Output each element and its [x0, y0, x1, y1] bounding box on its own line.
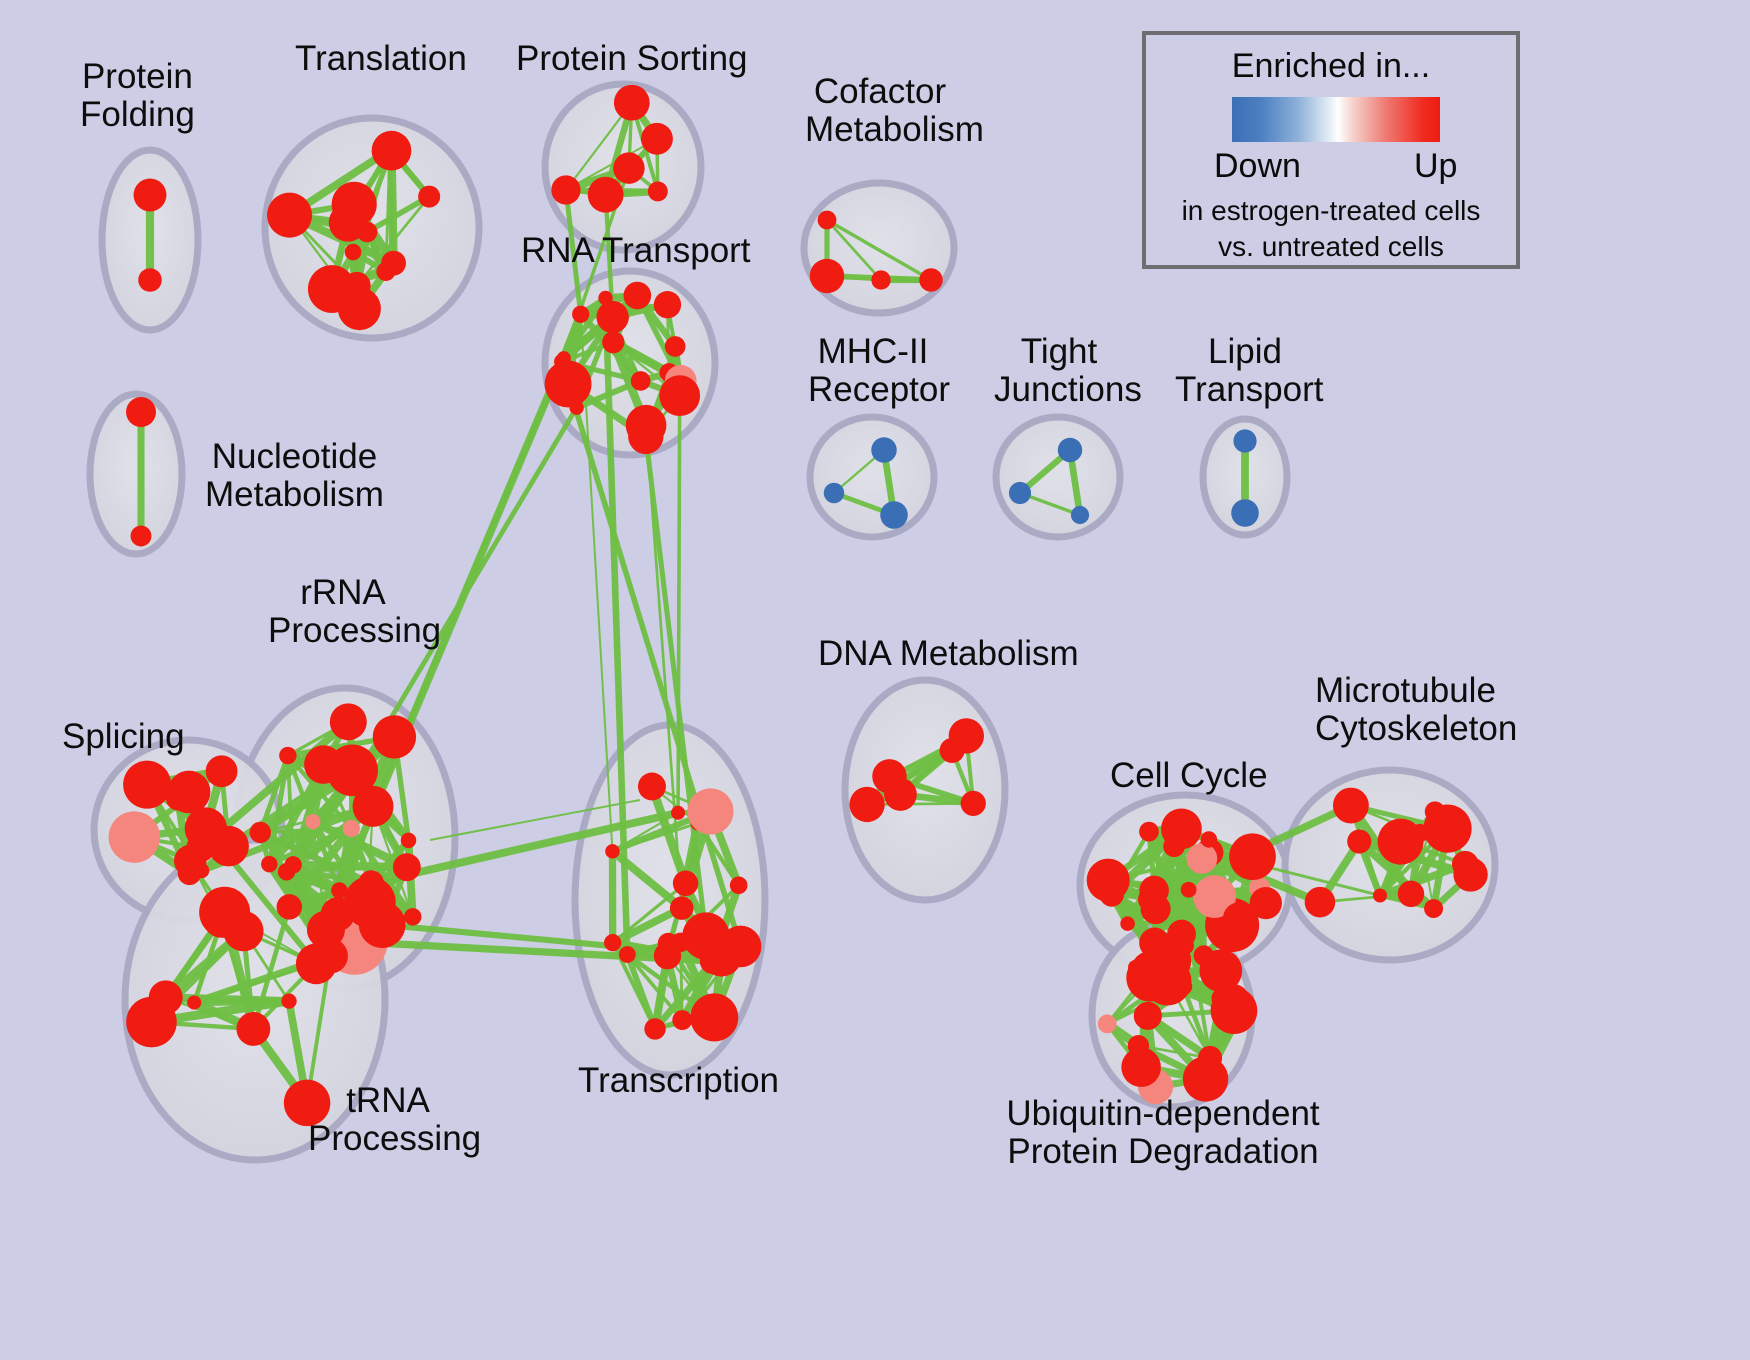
cluster-label-tight-junctions: Tight Junctions — [994, 333, 1124, 409]
cluster-label-cell-cycle: Cell Cycle — [1110, 757, 1268, 795]
cluster-label-cofactor-metabolism: Cofactor Metabolism — [805, 73, 955, 149]
legend-subtitle-line2: vs. untreated cells — [1146, 231, 1516, 263]
cluster-label-splicing: Splicing — [62, 718, 185, 756]
cluster-label-dna-metabolism: DNA Metabolism — [818, 635, 1079, 673]
cluster-label-rna-transport: RNA Transport — [521, 232, 751, 270]
cluster-label-mhc-ii-receptor: MHC-II Receptor — [808, 333, 938, 409]
cluster-label-nucleotide-metabolism: Nucleotide Metabolism — [205, 438, 384, 514]
cluster-label-protein-sorting: Protein Sorting — [516, 40, 748, 78]
legend-color-gradient-bar — [1232, 97, 1440, 142]
legend-title: Enriched in... — [1146, 47, 1516, 86]
cluster-label-translation: Translation — [295, 40, 467, 78]
cluster-label-protein-folding: Protein Folding — [80, 58, 195, 134]
cluster-label-ubiquitin-degradation: Ubiquitin-dependent Protein Degradation — [998, 1095, 1328, 1171]
enrichment-map-figure: Protein Folding Translation Protein Sort… — [0, 0, 1750, 1360]
legend-subtitle-line1: in estrogen-treated cells — [1146, 195, 1516, 227]
cluster-label-transcription: Transcription — [578, 1062, 779, 1100]
cluster-label-lipid-transport: Lipid Transport — [1175, 333, 1315, 409]
legend-down-label: Down — [1214, 147, 1301, 186]
cluster-label-trna-processing: tRNA Processing — [308, 1082, 468, 1158]
legend-up-label: Up — [1414, 147, 1457, 186]
legend-panel: Enriched in... Down Up in estrogen-treat… — [1142, 31, 1520, 269]
cluster-label-rrna-processing: rRNA Processing — [268, 574, 418, 650]
cluster-label-microtubule-cytoskeleton: Microtubule Cytoskeleton — [1315, 672, 1495, 748]
